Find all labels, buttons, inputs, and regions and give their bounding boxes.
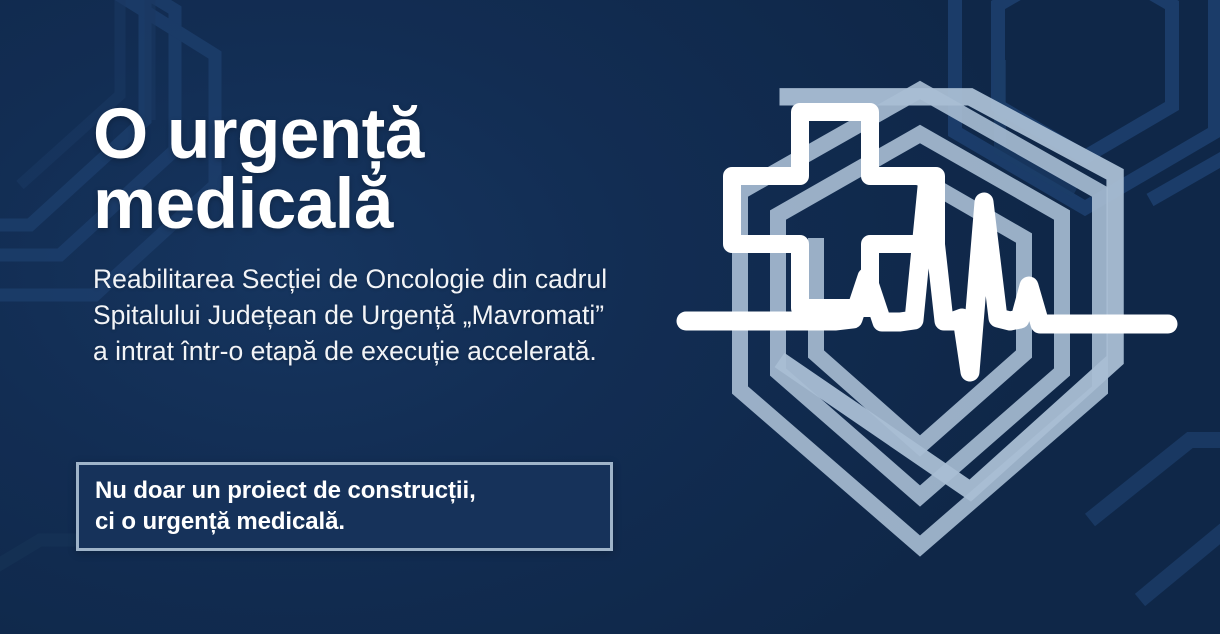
subtitle-paragraph: Reabilitarea Secției de Oncologie din ca…	[93, 261, 613, 369]
poster-canvas: O urgență medicală Reabilitarea Secției …	[0, 0, 1220, 634]
text-column: O urgență medicală Reabilitarea Secției …	[93, 100, 653, 369]
callout-text: Nu doar un proiect de construcții, ci o …	[79, 476, 490, 536]
callout-box: Nu doar un proiect de construcții, ci o …	[76, 462, 613, 551]
page-title: O urgență medicală	[93, 100, 653, 241]
medical-shield-emblem	[648, 72, 1188, 572]
